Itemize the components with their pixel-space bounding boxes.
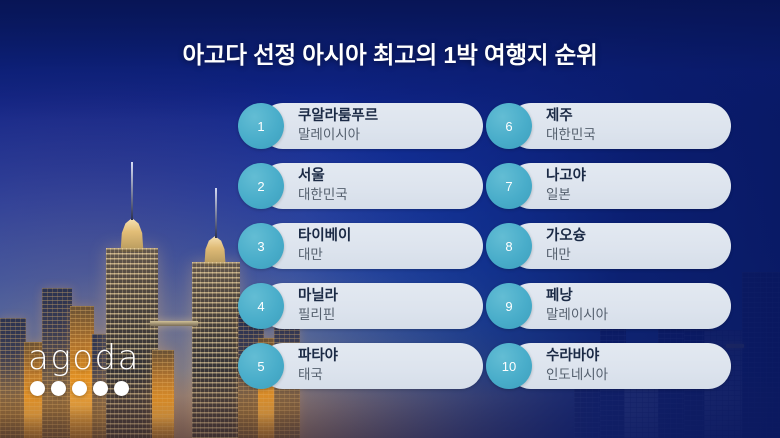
rank-text: 타이베이 대만	[298, 227, 351, 264]
country-label: 태국	[298, 366, 338, 384]
rank-text: 쿠알라룸푸르 말레이시아	[298, 107, 378, 144]
rank-badge: 5	[238, 343, 284, 389]
ranking-column-left: 1 쿠알라룸푸르 말레이시아 2 서울 대한민국 3 타이베이 대만 4	[238, 103, 483, 403]
city-label: 파타야	[298, 347, 338, 366]
rank-text: 나고야 일본	[546, 167, 586, 204]
city-label: 제주	[546, 107, 596, 126]
list-item[interactable]: 4 마닐라 필리핀	[238, 283, 483, 329]
rank-badge: 10	[486, 343, 532, 389]
country-label: 대한민국	[298, 186, 348, 204]
logo-dot	[30, 381, 45, 396]
country-label: 인도네시아	[546, 366, 608, 384]
list-item[interactable]: 1 쿠알라룸푸르 말레이시아	[238, 103, 483, 149]
list-item[interactable]: 5 파타야 태국	[238, 343, 483, 389]
rank-text: 가오슝 대만	[546, 227, 586, 264]
ranking-column-right: 6 제주 대한민국 7 나고야 일본 8 가오슝 대만 9	[486, 103, 731, 403]
rank-badge: 2	[238, 163, 284, 209]
list-item[interactable]: 7 나고야 일본	[486, 163, 731, 209]
rank-badge: 4	[238, 283, 284, 329]
page-title: 아고다 선정 아시아 최고의 1박 여행지 순위	[0, 36, 780, 70]
country-label: 말레이시아	[546, 306, 608, 324]
list-item[interactable]: 6 제주 대한민국	[486, 103, 731, 149]
rank-text: 수라바야 인도네시아	[546, 347, 608, 384]
rank-pill[interactable]	[508, 103, 731, 149]
list-item[interactable]: 8 가오슝 대만	[486, 223, 731, 269]
rank-pill[interactable]	[508, 163, 731, 209]
city-label: 가오슝	[546, 227, 586, 246]
rank-text: 페낭 말레이시아	[546, 287, 608, 324]
city-label: 서울	[298, 167, 348, 186]
city-label: 페낭	[546, 287, 608, 306]
rank-pill[interactable]	[508, 343, 731, 389]
list-item[interactable]: 9 페낭 말레이시아	[486, 283, 731, 329]
rank-badge: 3	[238, 223, 284, 269]
city-label: 타이베이	[298, 227, 351, 246]
logo-dot	[114, 381, 129, 396]
agoda-logo-dots	[30, 381, 160, 396]
rank-badge: 6	[486, 103, 532, 149]
rank-pill[interactable]	[260, 163, 483, 209]
rank-badge: 8	[486, 223, 532, 269]
infographic-card: 아고다 선정 아시아 최고의 1박 여행지 순위 1 쿠알라룸푸르 말레이시아 …	[0, 0, 780, 438]
city-label: 마닐라	[298, 287, 338, 306]
country-label: 일본	[546, 186, 586, 204]
rank-badge: 9	[486, 283, 532, 329]
rank-text: 제주 대한민국	[546, 107, 596, 144]
rank-badge: 1	[238, 103, 284, 149]
rank-text: 서울 대한민국	[298, 167, 348, 204]
rank-pill[interactable]	[260, 343, 483, 389]
rank-pill[interactable]	[508, 223, 731, 269]
country-label: 대만	[546, 246, 586, 264]
rank-pill[interactable]	[260, 223, 483, 269]
list-item[interactable]: 2 서울 대한민국	[238, 163, 483, 209]
city-label: 나고야	[546, 167, 586, 186]
rank-text: 마닐라 필리핀	[298, 287, 338, 324]
rank-text: 파타야 태국	[298, 347, 338, 384]
rank-badge: 7	[486, 163, 532, 209]
city-label: 수라바야	[546, 347, 608, 366]
list-item[interactable]: 3 타이베이 대만	[238, 223, 483, 269]
country-label: 말레이시아	[298, 126, 378, 144]
logo-dot	[72, 381, 87, 396]
logo-dot	[51, 381, 66, 396]
rank-pill[interactable]	[260, 283, 483, 329]
list-item[interactable]: 10 수라바야 인도네시아	[486, 343, 731, 389]
agoda-logo: agoda	[28, 341, 160, 396]
country-label: 대만	[298, 246, 351, 264]
logo-dot	[93, 381, 108, 396]
country-label: 대한민국	[546, 126, 596, 144]
city-label: 쿠알라룸푸르	[298, 107, 378, 126]
rank-pill[interactable]	[508, 283, 731, 329]
agoda-wordmark: agoda	[28, 341, 160, 375]
country-label: 필리핀	[298, 306, 338, 324]
